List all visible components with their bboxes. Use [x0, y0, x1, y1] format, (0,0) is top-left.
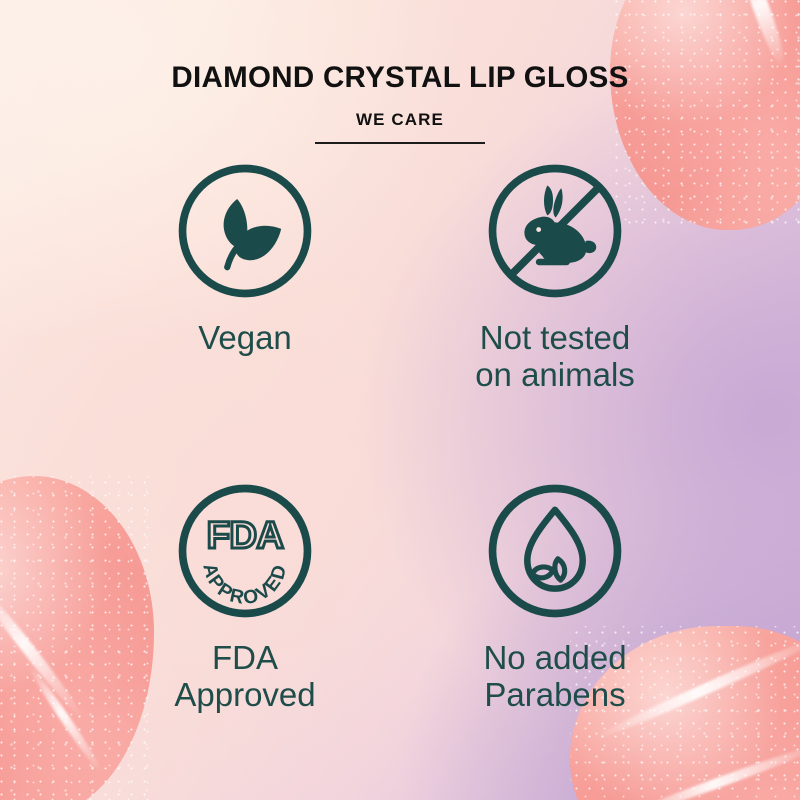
- feature-item-fda-approved: FDA APPROVED FDA Approved: [90, 480, 400, 800]
- header: DIAMOND CRYSTAL LIP GLOSS WE CARE: [0, 62, 800, 144]
- feature-label: No added Parabens: [483, 640, 626, 714]
- feature-grid: Vegan: [90, 160, 710, 800]
- page-title: DIAMOND CRYSTAL LIP GLOSS: [0, 62, 800, 94]
- page-subtitle: WE CARE: [0, 110, 800, 130]
- leaf-circle-icon: [174, 160, 316, 302]
- feature-item-no-added-parabens: No added Parabens: [400, 480, 710, 800]
- no-animal-testing-rabbit-icon: [484, 160, 626, 302]
- feature-item-vegan: Vegan: [90, 160, 400, 480]
- gloss-highlight-streak: [734, 0, 790, 69]
- fda-approved-badge-icon: FDA APPROVED: [174, 480, 316, 622]
- divider-rule: [315, 142, 485, 144]
- fda-badge-primary-text: FDA: [207, 514, 284, 557]
- droplet-leaf-circle-icon: [484, 480, 626, 622]
- gloss-highlight-streak: [0, 579, 86, 720]
- feature-item-not-tested-on-animals: Not tested on animals: [400, 160, 710, 480]
- feature-label: Not tested on animals: [475, 320, 635, 394]
- feature-label: FDA Approved: [174, 640, 315, 714]
- product-claims-graphic: DIAMOND CRYSTAL LIP GLOSS WE CARE Vegan: [0, 0, 800, 800]
- feature-label: Vegan: [198, 320, 292, 357]
